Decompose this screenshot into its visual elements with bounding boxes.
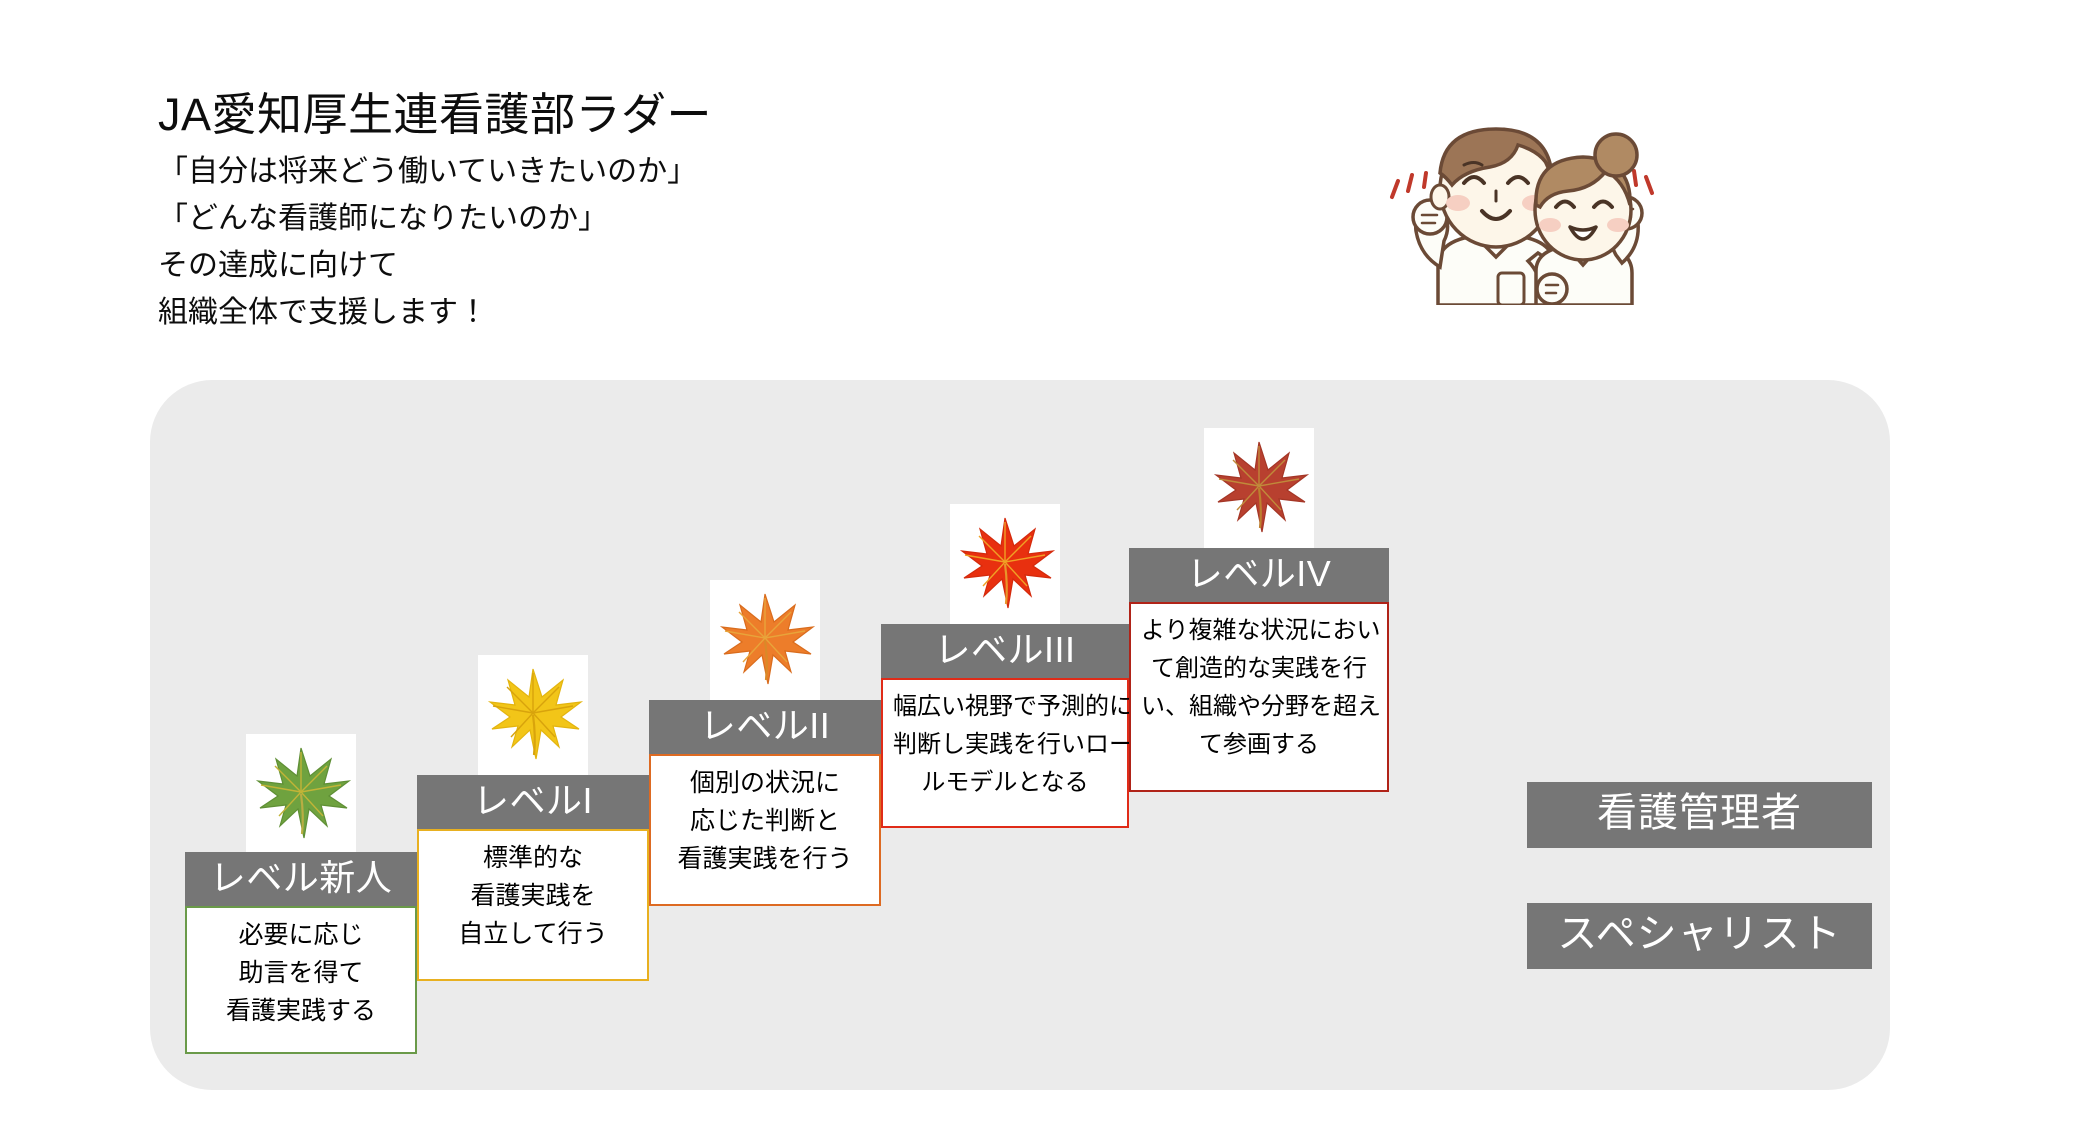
two-nurses-cheering-illustration	[1378, 105, 1666, 305]
step-level-label: レベルIII	[881, 624, 1129, 678]
step-description-line: て創造的な実践を行	[1141, 650, 1377, 688]
ladder-step-level-3[interactable]: レベルIII 幅広い視野で予測的に 判断し実践を行いロー ルモデルとなる	[881, 624, 1129, 828]
step-description-line: い、組織や分野を超え	[1141, 688, 1377, 726]
red-maple-leaf-icon	[950, 504, 1060, 626]
ladder-step-level-4[interactable]: レベルIV より複雑な状況におい て創造的な実践を行 い、組織や分野を超え て参…	[1129, 548, 1389, 792]
step-level-label: レベルII	[649, 700, 881, 754]
step-description-line: 看護実践を	[429, 877, 637, 915]
subtitle-line-4: 組織全体で支援します！	[158, 289, 697, 336]
step-description-line: 標準的な	[429, 839, 637, 877]
step-description: 標準的な 看護実践を 自立して行う	[417, 829, 649, 981]
step-description-line: 自立して行う	[429, 915, 637, 953]
step-level-label: レベルIV	[1129, 548, 1389, 602]
step-description-line: 応じた判断と	[661, 802, 869, 840]
step-description: より複雑な状況におい て創造的な実践を行 い、組織や分野を超え て参画する	[1129, 602, 1389, 792]
ladder-step-level-2[interactable]: レベルII 個別の状況に 応じた判断と 看護実践を行う	[649, 700, 881, 906]
step-description: 幅広い視野で予測的に 判断し実践を行いロー ルモデルとなる	[881, 678, 1129, 828]
subtitle-block: 「自分は将来どう働いていきたいのか」 「どんな看護師になりたいのか」 その達成に…	[158, 148, 697, 336]
ladder-step-level-new[interactable]: レベル新人 必要に応じ 助言を得て 看護実践する	[185, 852, 417, 1054]
subtitle-line-1: 「自分は将来どう働いていきたいのか」	[158, 148, 697, 195]
step-description-line: 助言を得て	[197, 954, 405, 992]
step-description-line: 個別の状況に	[661, 764, 869, 802]
step-level-label: レベルI	[417, 775, 649, 829]
ladder-step-level-1[interactable]: レベルI 標準的な 看護実践を 自立して行う	[417, 775, 649, 981]
role-tag-specialist[interactable]: スペシャリスト	[1527, 903, 1872, 969]
orange-maple-leaf-icon	[710, 580, 820, 702]
page-title: JA愛知厚生連看護部ラダー	[158, 78, 712, 143]
step-description-line: より複雑な状況におい	[1141, 612, 1377, 650]
subtitle-line-3: その達成に向けて	[158, 242, 697, 289]
role-tag-nursing-manager[interactable]: 看護管理者	[1527, 782, 1872, 848]
step-description: 必要に応じ 助言を得て 看護実践する	[185, 906, 417, 1054]
step-description-line: 看護実践を行う	[661, 840, 869, 878]
step-description: 個別の状況に 応じた判断と 看護実践を行う	[649, 754, 881, 906]
step-description-line: ルモデルとなる	[893, 764, 1117, 802]
step-description-line: 必要に応じ	[197, 916, 405, 954]
subtitle-line-2: 「どんな看護師になりたいのか」	[158, 195, 697, 242]
step-description-line: 幅広い視野で予測的に	[893, 688, 1117, 726]
step-description-line: 判断し実践を行いロー	[893, 726, 1117, 764]
yellow-maple-leaf-icon	[478, 655, 588, 777]
step-level-label: レベル新人	[185, 852, 417, 906]
step-description-line: て参画する	[1141, 726, 1377, 764]
green-maple-leaf-icon	[246, 734, 356, 854]
dark-red-maple-leaf-icon	[1204, 428, 1314, 550]
step-description-line: 看護実践する	[197, 992, 405, 1030]
